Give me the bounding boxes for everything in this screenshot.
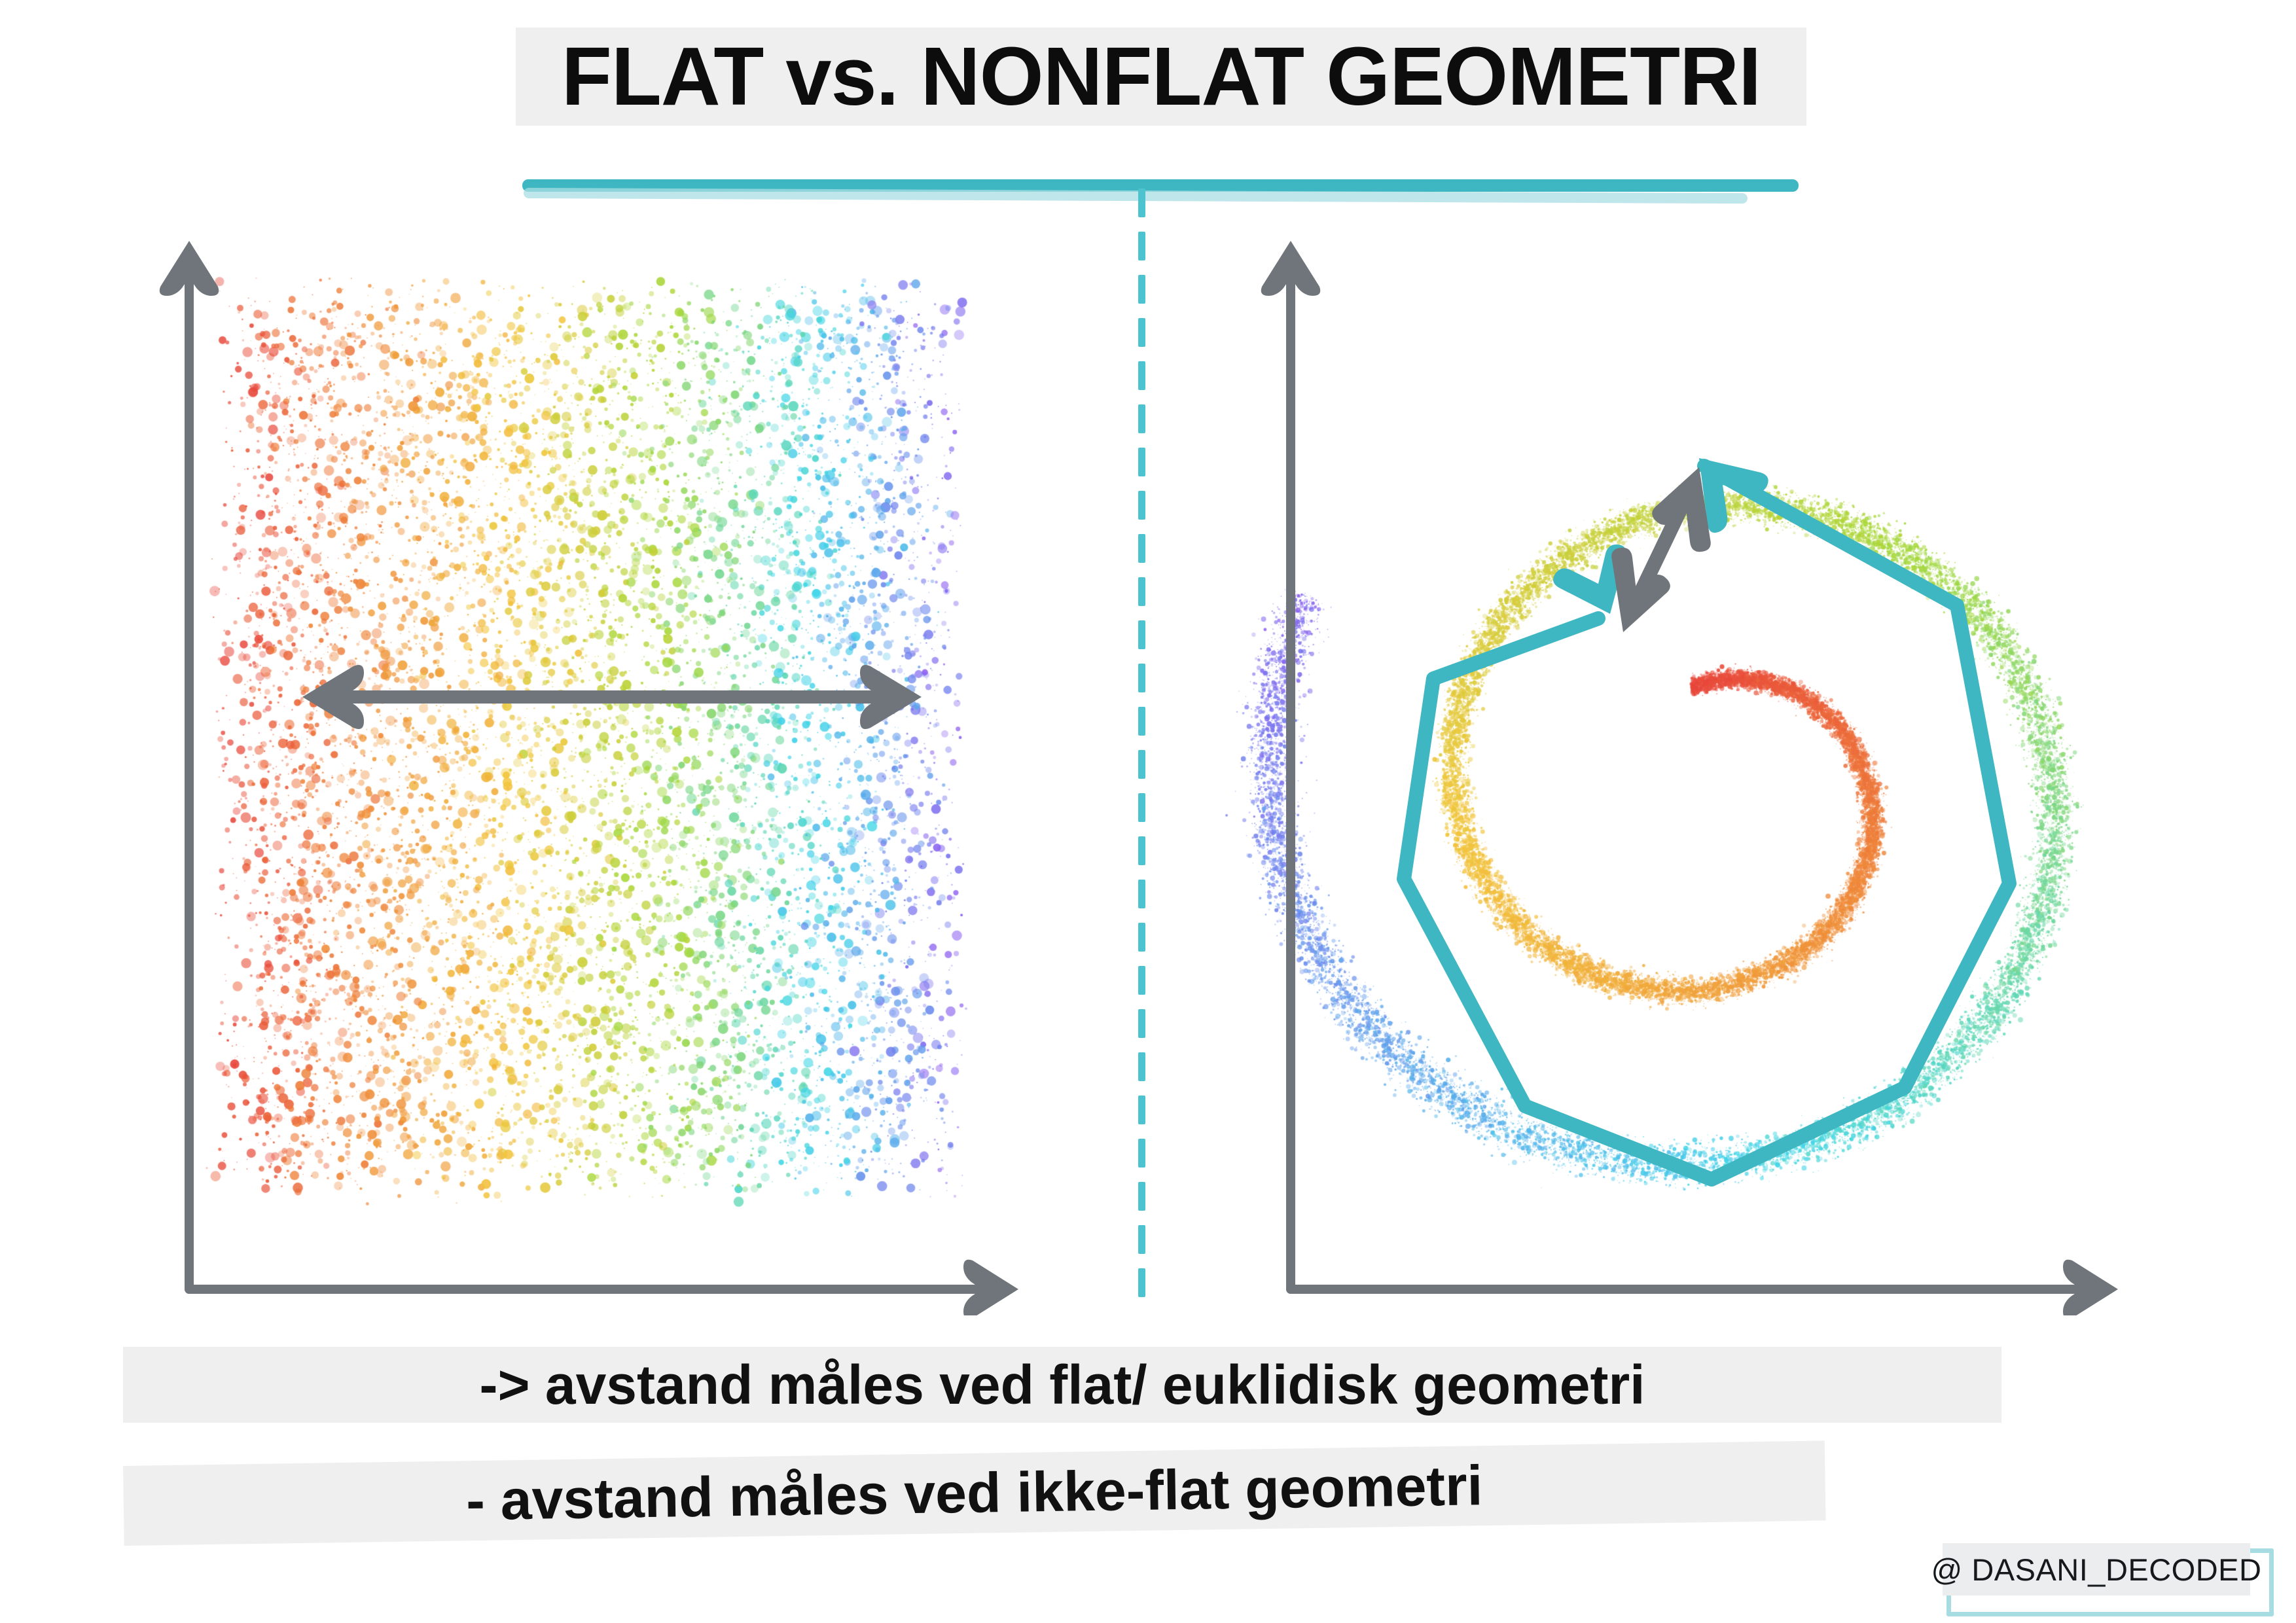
flat-euclidean-panel: [0, 0, 1139, 1315]
divider-dash: [1138, 491, 1145, 520]
divider-dash: [1138, 707, 1145, 736]
divider-dash: [1138, 318, 1145, 347]
divider-dash: [1138, 880, 1145, 908]
euclidean-chord-arrow: [1611, 467, 1711, 632]
watermark: @ DASANI_DECODED: [1943, 1543, 2265, 1607]
divider-dash: [1138, 361, 1145, 390]
divider-dash: [1138, 188, 1145, 217]
divider-dash: [1138, 620, 1145, 649]
divider-dash: [1138, 1052, 1145, 1081]
divider-dash: [1138, 1268, 1145, 1297]
divider-dash: [1138, 1225, 1145, 1254]
divider-dash: [1138, 1182, 1145, 1211]
divider-dash: [1138, 664, 1145, 692]
divider-dash: [1138, 448, 1145, 476]
caption-flat: -> avstand måles ved flat/ euklidisk geo…: [123, 1347, 2001, 1423]
divider-dash: [1138, 1139, 1145, 1168]
divider-dash: [1138, 923, 1145, 952]
divider-dash: [1138, 275, 1145, 304]
divider-dash: [1138, 1096, 1145, 1124]
euclidean-distance-arrow: [302, 665, 922, 729]
geodesic-polyline: [1404, 458, 2009, 1179]
divider-dash: [1138, 793, 1145, 822]
divider-dash: [1138, 1009, 1145, 1038]
divider-dash: [1138, 534, 1145, 563]
divider-dash: [1138, 577, 1145, 606]
nonflat-manifold-panel: [1152, 0, 2296, 1315]
divider-dash: [1138, 836, 1145, 865]
divider-dash: [1138, 966, 1145, 995]
panel-divider: [1138, 188, 1145, 1289]
divider-dash: [1138, 404, 1145, 433]
flat-panel-axes-overlay: [0, 0, 1139, 1315]
divider-dash: [1138, 232, 1145, 260]
manifold-panel-overlay: [1152, 0, 2296, 1315]
divider-dash: [1138, 750, 1145, 779]
caption-nonflat: - avstand måles ved ikke-flat geometri: [123, 1440, 1826, 1546]
watermark-handle: @ DASANI_DECODED: [1943, 1543, 2250, 1596]
